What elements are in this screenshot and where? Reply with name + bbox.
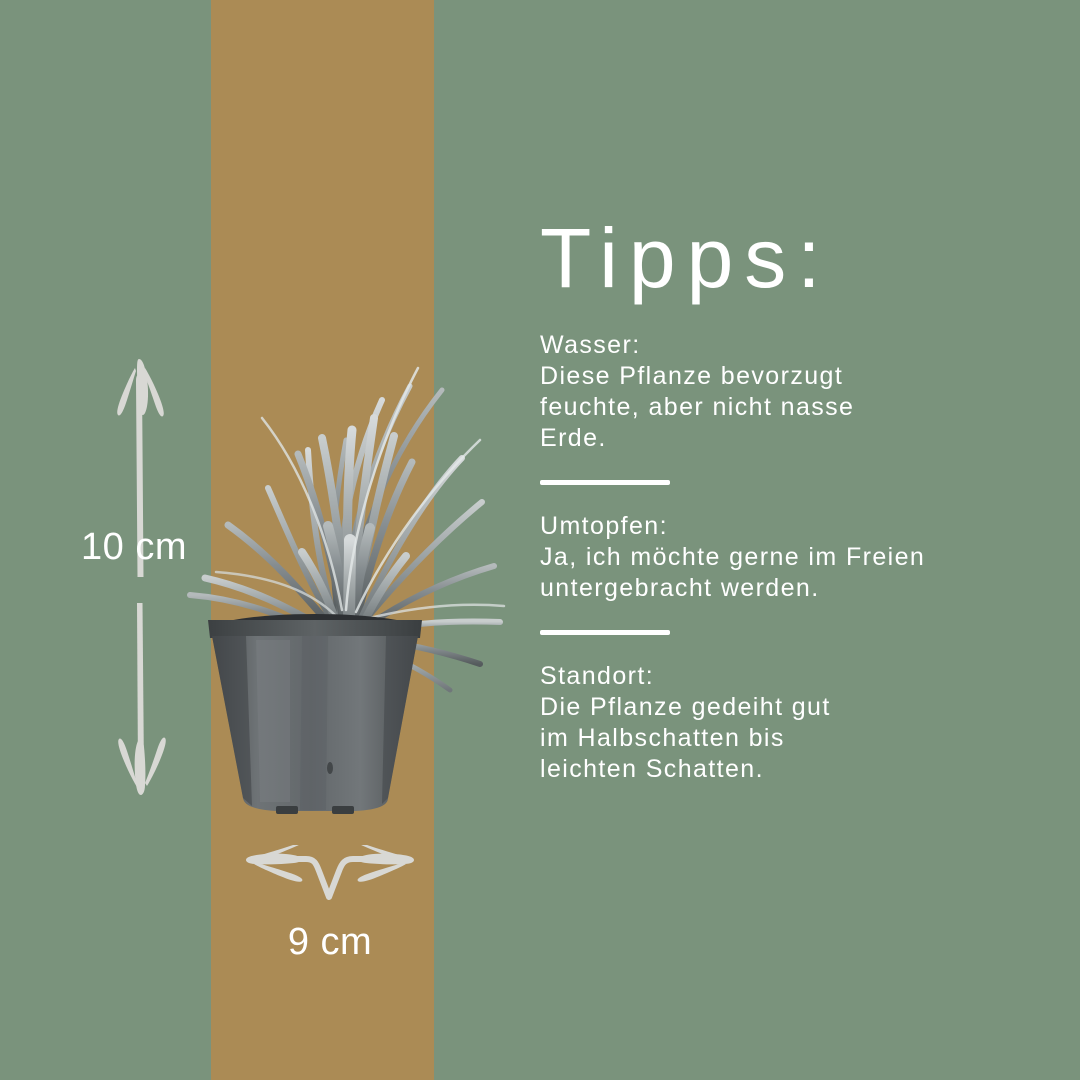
- tips-title: Tipps:: [540, 210, 1040, 306]
- plant-pot: [208, 620, 422, 814]
- tips-panel: Tipps: Wasser: Diese Pflanze bevorzugt f…: [540, 210, 1040, 785]
- width-dimension-arrow: [240, 845, 420, 905]
- tip-heading-standort: Standort:: [540, 661, 1040, 692]
- tip-item-wasser: Wasser: Diese Pflanze bevorzugt feuchte,…: [540, 330, 1040, 454]
- tip-heading-wasser: Wasser:: [540, 330, 1040, 361]
- product-info-card: 10 cm 9 cm: [0, 0, 1080, 1080]
- tip-divider-1: [540, 480, 670, 485]
- height-dimension-arrow: [92, 345, 192, 810]
- tip-body-standort: Die Pflanze gedeiht gut im Halbschatten …: [540, 692, 1040, 785]
- plant-photo: [150, 290, 510, 820]
- height-label: 10 cm: [64, 525, 204, 569]
- tip-heading-umtopfen: Umtopfen:: [540, 511, 1040, 542]
- tip-item-umtopfen: Umtopfen: Ja, ich möchte gerne im Freien…: [540, 511, 1040, 604]
- tip-divider-2: [540, 630, 670, 635]
- tip-body-umtopfen: Ja, ich möchte gerne im Freien untergebr…: [540, 542, 1040, 604]
- tip-item-standort: Standort: Die Pflanze gedeiht gut im Hal…: [540, 661, 1040, 785]
- width-label: 9 cm: [255, 920, 405, 964]
- tip-body-wasser: Diese Pflanze bevorzugt feuchte, aber ni…: [540, 361, 1040, 454]
